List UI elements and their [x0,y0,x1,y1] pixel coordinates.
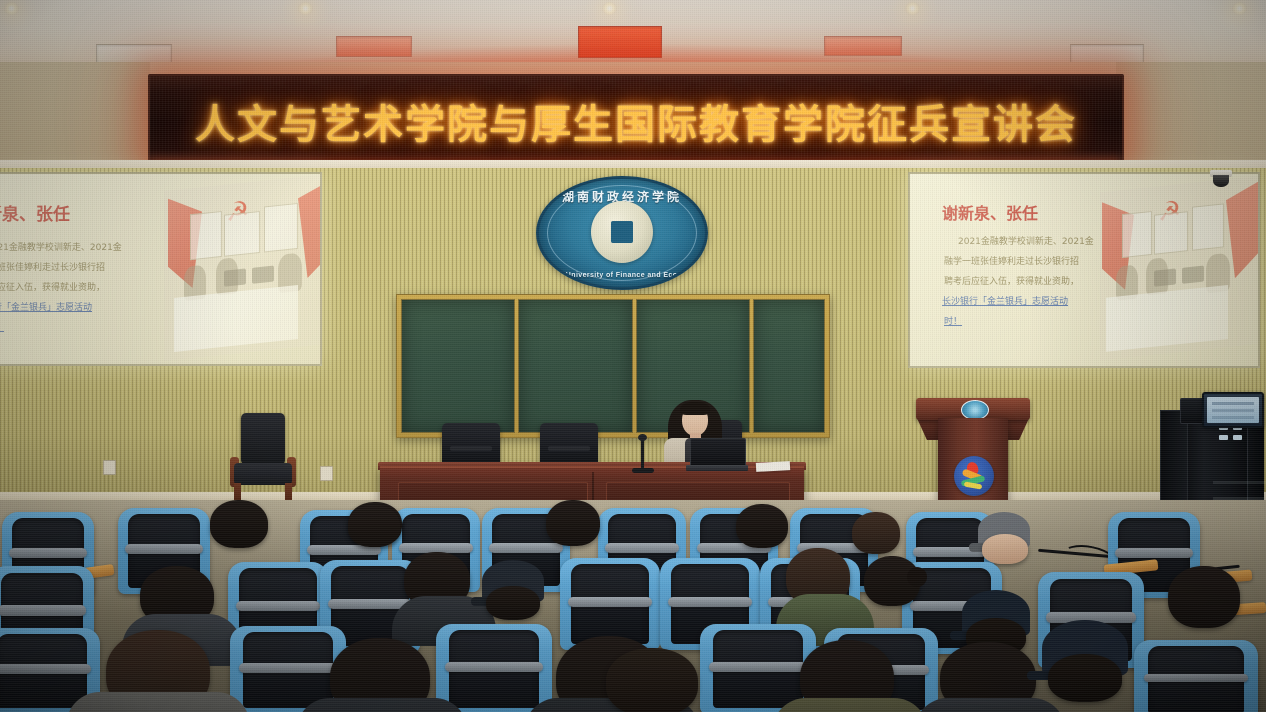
wall-outlet [320,466,333,481]
slide-body-link: 长沙银行「金兰银兵」志愿活动 [942,296,1068,310]
ceiling-downlight [602,2,617,15]
blackboard-panel [518,299,632,433]
led-banner: 人文与艺术学院与厚生国际教育学院征兵宣讲会 [148,74,1124,168]
ceiling-panel [336,36,412,57]
slide-table [174,285,298,352]
slide-heading: 谢新泉、张任 [942,200,1038,224]
ceiling-panel [824,36,902,56]
slide-monitor [252,265,274,283]
ceiling-downlight [1232,2,1247,15]
blackboard [396,294,830,438]
slide-body-5: 时！ [0,322,4,336]
slide-doc [264,203,298,253]
auditorium-seat[interactable] [1134,640,1258,712]
slide-monitor [224,268,246,286]
led-banner-text: 人文与艺术学院与厚生国际教育学院征兵宣讲会 [195,92,1077,150]
laptop-base [686,465,748,471]
lectern-sport-logo-icon [954,456,994,496]
slide-doc [190,211,222,260]
control-panel-screen[interactable] [1207,397,1259,423]
ceiling-downlight [4,2,19,15]
slide-monitor [1154,268,1176,286]
laptop [686,438,748,472]
presenter-fringe [680,402,710,415]
slide-body-1: 2021金融教学校训新走、2021金 [958,236,1094,250]
side-armchair [228,413,298,505]
slide-doc [224,211,260,257]
auditorium-seat[interactable] [436,624,552,712]
slide-body-3: 聘考后应征入伍，获得就业资助， [944,276,1079,290]
slide-photo: ☭ [164,173,322,361]
slide-doc [1154,211,1188,255]
slide-body-3: 聘考后应征入伍，获得就业资助， [0,282,105,296]
laptop-screen [690,438,746,468]
slide-heading: 谢新泉、张任 [0,200,70,225]
wall-outlet [103,460,116,475]
ceiling-dome-camera-icon [1210,170,1232,188]
lectern-university-emblem-icon [961,400,989,420]
ceiling-downlight [298,2,313,15]
slide-body-5: 时！ [944,316,962,330]
emblem-coin-icon [591,201,653,263]
slide-doc [1192,203,1224,250]
lectern [916,398,1030,516]
lecture-hall-photo: 人文与艺术学院与厚生国际教育学院征兵宣讲会 ☭ 谢新泉、张任 [0,0,1266,712]
slide-monitor [1182,265,1204,283]
blackboard-panel [753,299,825,433]
blackboard-panel [401,299,515,433]
slide-photo: ☭ [1100,176,1260,361]
microphone-base [632,468,654,473]
right-projection-screen: ☭ 谢新泉、张任 2021金融教学校训新走、2021金 融学一班张佳婷利走过长沙… [908,172,1260,368]
rack-control-box [1180,398,1204,424]
ceiling-panel [578,26,662,58]
ceiling-downlight [905,2,920,15]
slide-body-1: 2021金融教学校训新走、2021金 [0,242,122,256]
microphone [641,438,644,470]
ceiling-panel [1070,44,1144,63]
left-projection-screen: ☭ 谢新泉、张任 2021金融教学校训新走、2021金 融学一班张佳婷利走过长沙… [0,172,322,366]
control-touch-panel[interactable] [1202,392,1264,428]
presidium-chair [540,423,598,467]
slide-table [1106,285,1228,352]
presidium-chair [442,423,500,467]
red-flag-right [1226,182,1258,279]
university-emblem: 湖南财政经济学院 Hunan University of Finance and… [536,176,708,290]
slide-doc [1122,211,1152,258]
slide-body-link: 长沙银行「金兰银兵」志愿活动 [0,302,92,316]
desk-papers [756,461,790,472]
slide-body-2: 融学一班张佳婷利走过长沙银行招 [944,256,1079,270]
slide-body-2: 融学一班张佳婷利走过长沙银行招 [0,262,105,276]
ceiling-panel [96,44,172,63]
emblem-name-en: Hunan University of Finance and Economic… [539,272,705,279]
